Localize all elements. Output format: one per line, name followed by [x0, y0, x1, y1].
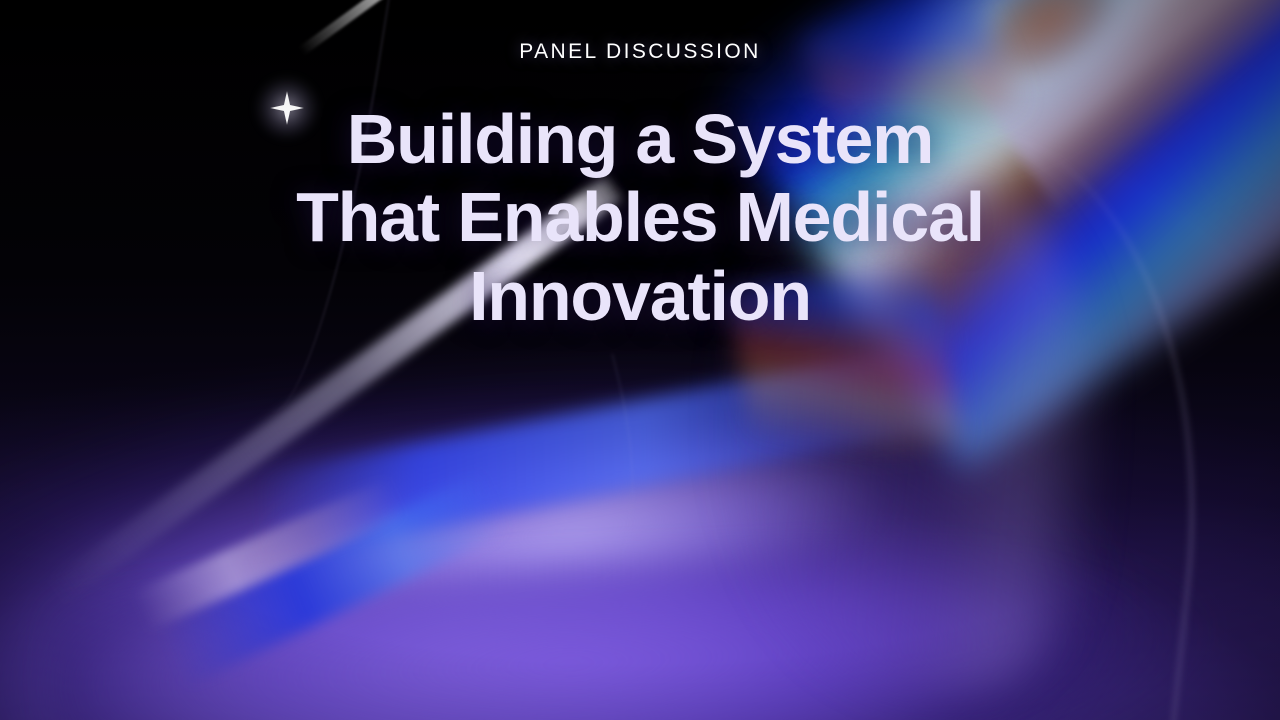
slide-kicker-label: PANEL DISCUSSION — [519, 40, 760, 64]
slide-title: Building a System That Enables Medical I… — [140, 100, 1140, 335]
slide-title-line-2: That Enables Medical — [140, 178, 1140, 256]
slide-title-line-1: Building a System — [140, 100, 1140, 178]
title-slide: PANEL DISCUSSION Building a System That … — [0, 0, 1280, 720]
slide-content: PANEL DISCUSSION Building a System That … — [0, 0, 1280, 720]
slide-title-line-3: Innovation — [140, 257, 1140, 335]
